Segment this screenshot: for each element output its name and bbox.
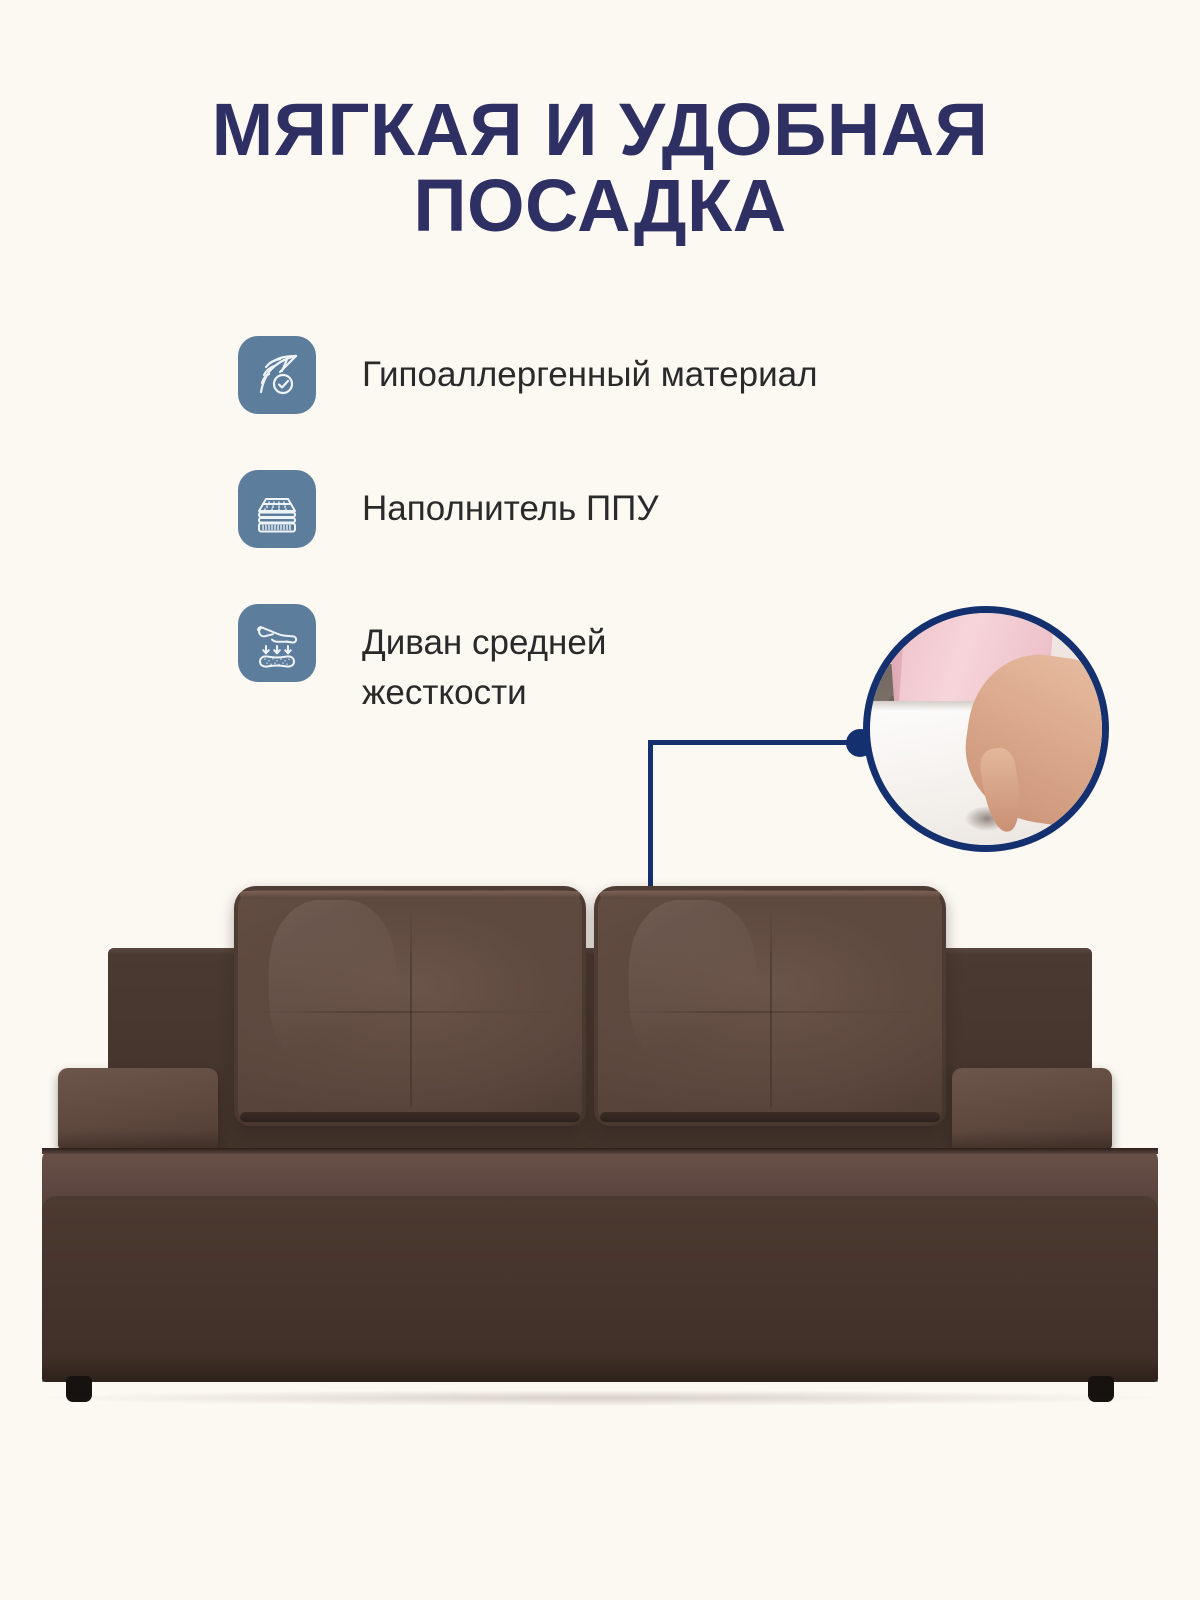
cushion-seam-vertical — [770, 905, 772, 1107]
cushion-seam-horizontal — [615, 1011, 925, 1013]
sofa-back-cushion-right — [594, 886, 946, 1126]
sofa-base — [42, 1196, 1158, 1382]
floor-shadow — [40, 1390, 1160, 1406]
cushion-seam-horizontal — [255, 1011, 565, 1013]
sofa-armrest-pad-left — [58, 1068, 218, 1152]
cushion-highlight — [629, 900, 756, 1068]
sofa-product-image — [0, 0, 1200, 1600]
sofa-armrest-pad-right — [952, 1068, 1112, 1152]
cushion-piping-top — [240, 891, 580, 899]
infographic-canvas: МЯГКАЯ И УДОБНАЯ ПОСАДКА Гипоаллергенный… — [0, 0, 1200, 1600]
sofa-back-cushion-left — [234, 886, 586, 1126]
cushion-piping-bottom — [600, 1112, 940, 1122]
cushion-highlight — [269, 900, 396, 1068]
cushion-seam-vertical — [410, 905, 412, 1107]
cushion-piping-bottom — [240, 1112, 580, 1122]
cushion-piping-top — [600, 891, 940, 899]
